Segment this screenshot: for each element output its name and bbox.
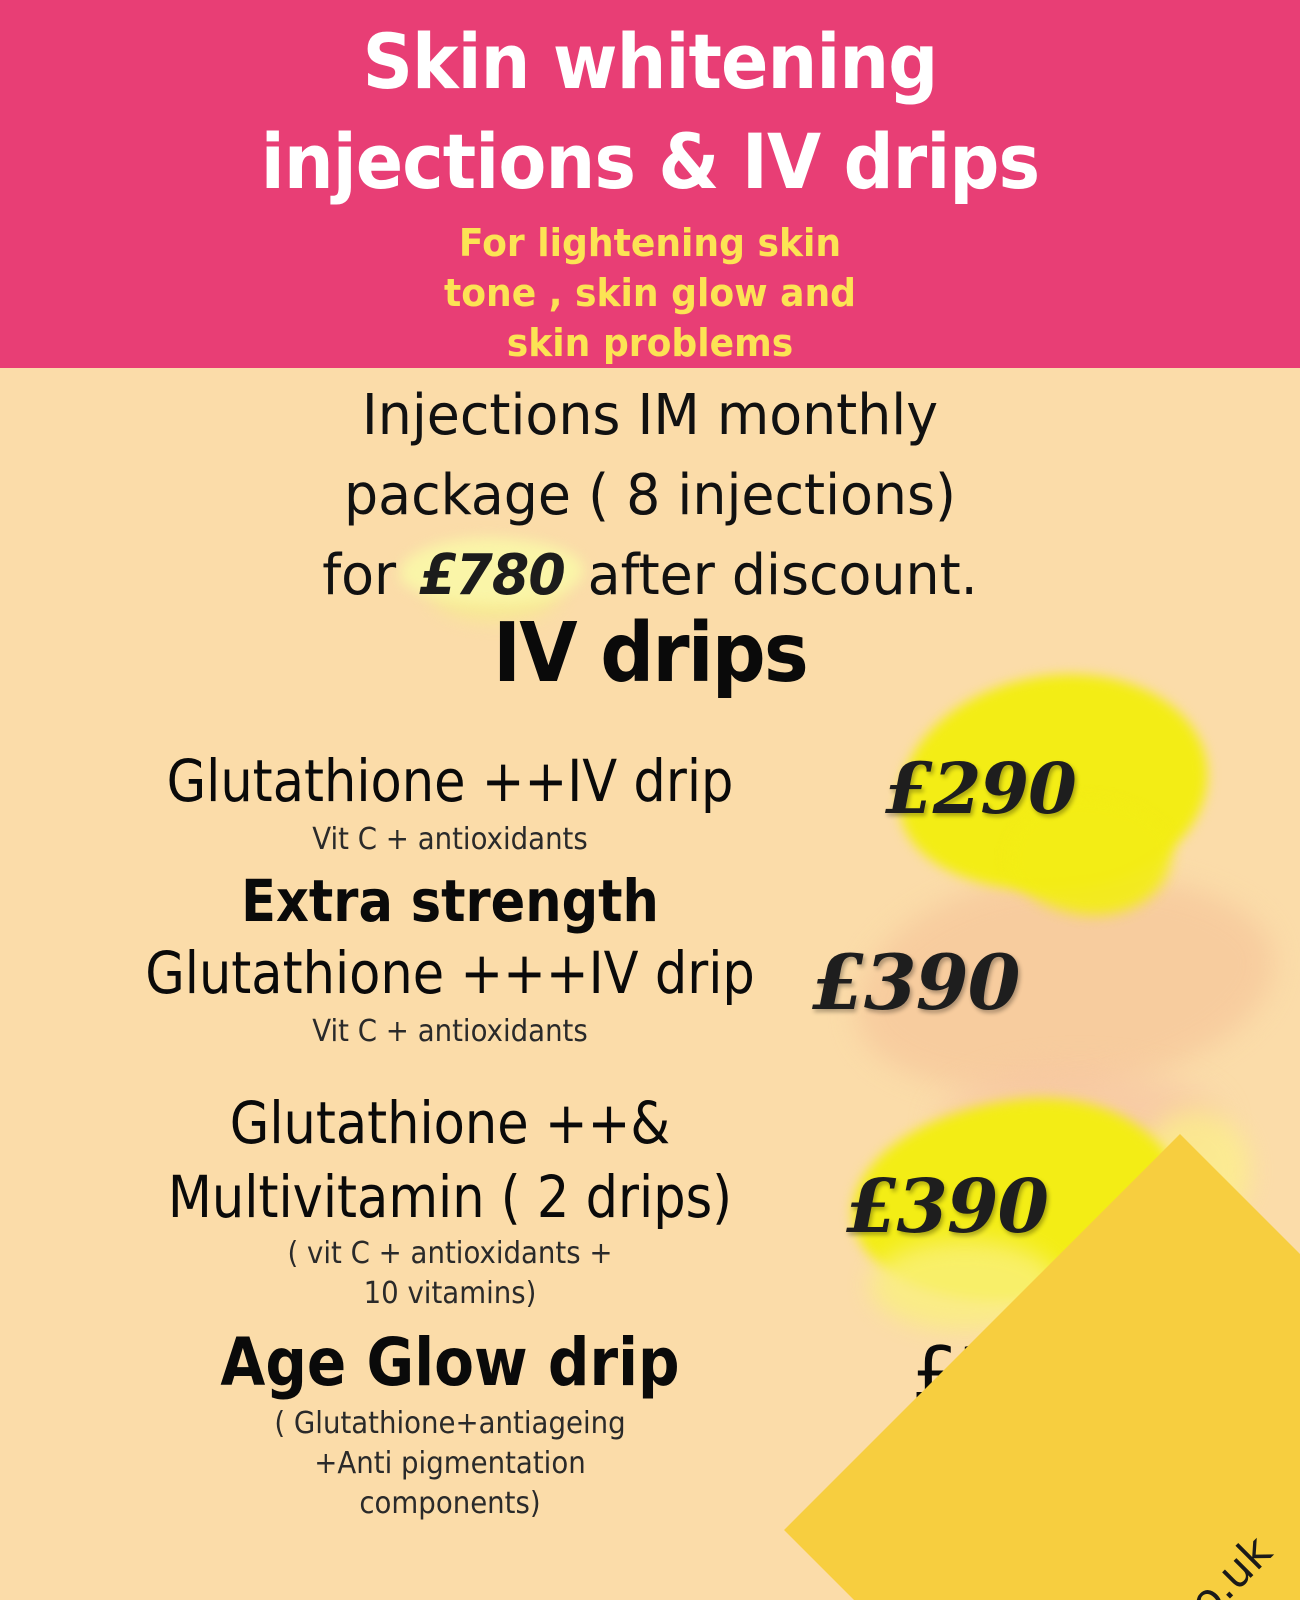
package-price-highlight: £780 — [413, 536, 570, 616]
item-note-line-2: +Anti pigmentation — [36, 1444, 864, 1484]
price-value: £290 — [885, 752, 1076, 826]
poster-title-line-2: injections & IV drips — [52, 112, 1248, 212]
header-banner: Skin whitening injections & IV drips For… — [0, 0, 1300, 368]
poster-root: Skin whitening injections & IV drips For… — [0, 0, 1300, 1600]
item-note-line: ( Glutathione+antiageing — [36, 1404, 864, 1444]
item-note-line: Vit C + antioxidants — [36, 820, 864, 860]
intro-line-2: package ( 8 injections) — [26, 456, 1274, 536]
intro-line-3-prefix: for — [322, 543, 413, 608]
poster-subtitle-line-2: tone , skin glow and — [33, 268, 1268, 318]
poster-title-line-1: Skin whitening — [52, 12, 1248, 112]
item-note-line-2: 10 vitamins) — [36, 1274, 864, 1314]
item-name-line: Age Glow drip — [54, 1330, 846, 1396]
item-note-line-3: components) — [36, 1484, 864, 1524]
intro-line-1: Injections IM monthly — [26, 376, 1274, 456]
intro-line-3-suffix: after discount. — [571, 543, 978, 608]
item-name-line-2: Multivitamin ( 2 drips) — [54, 1164, 846, 1230]
intro-paragraph: Injections IM monthly package ( 8 inject… — [26, 376, 1274, 616]
price-value: £390 — [812, 946, 1020, 1020]
item-name-line: Glutathione ++IV drip — [54, 748, 846, 814]
item-note-line: ( vit C + antioxidants + — [36, 1234, 864, 1274]
item-name-line: Extra strength — [54, 868, 846, 934]
item-note-line: Vit C + antioxidants — [36, 1012, 864, 1052]
intro-line-3: for £780 after discount. — [26, 536, 1274, 616]
item-name-line-2: Glutathione +++IV drip — [54, 940, 846, 1006]
poster-subtitle: For lightening skin tone , skin glow and… — [33, 218, 1268, 368]
poster-subtitle-line-1: For lightening skin — [33, 218, 1268, 268]
item-name-line: Glutathione ++& — [54, 1090, 846, 1156]
poster-subtitle-line-3: skin problems — [33, 318, 1268, 368]
price-value: £390 — [846, 1170, 1048, 1244]
poster-title: Skin whitening injections & IV drips — [52, 12, 1248, 212]
section-heading-iv-drips: IV drips — [52, 606, 1248, 702]
